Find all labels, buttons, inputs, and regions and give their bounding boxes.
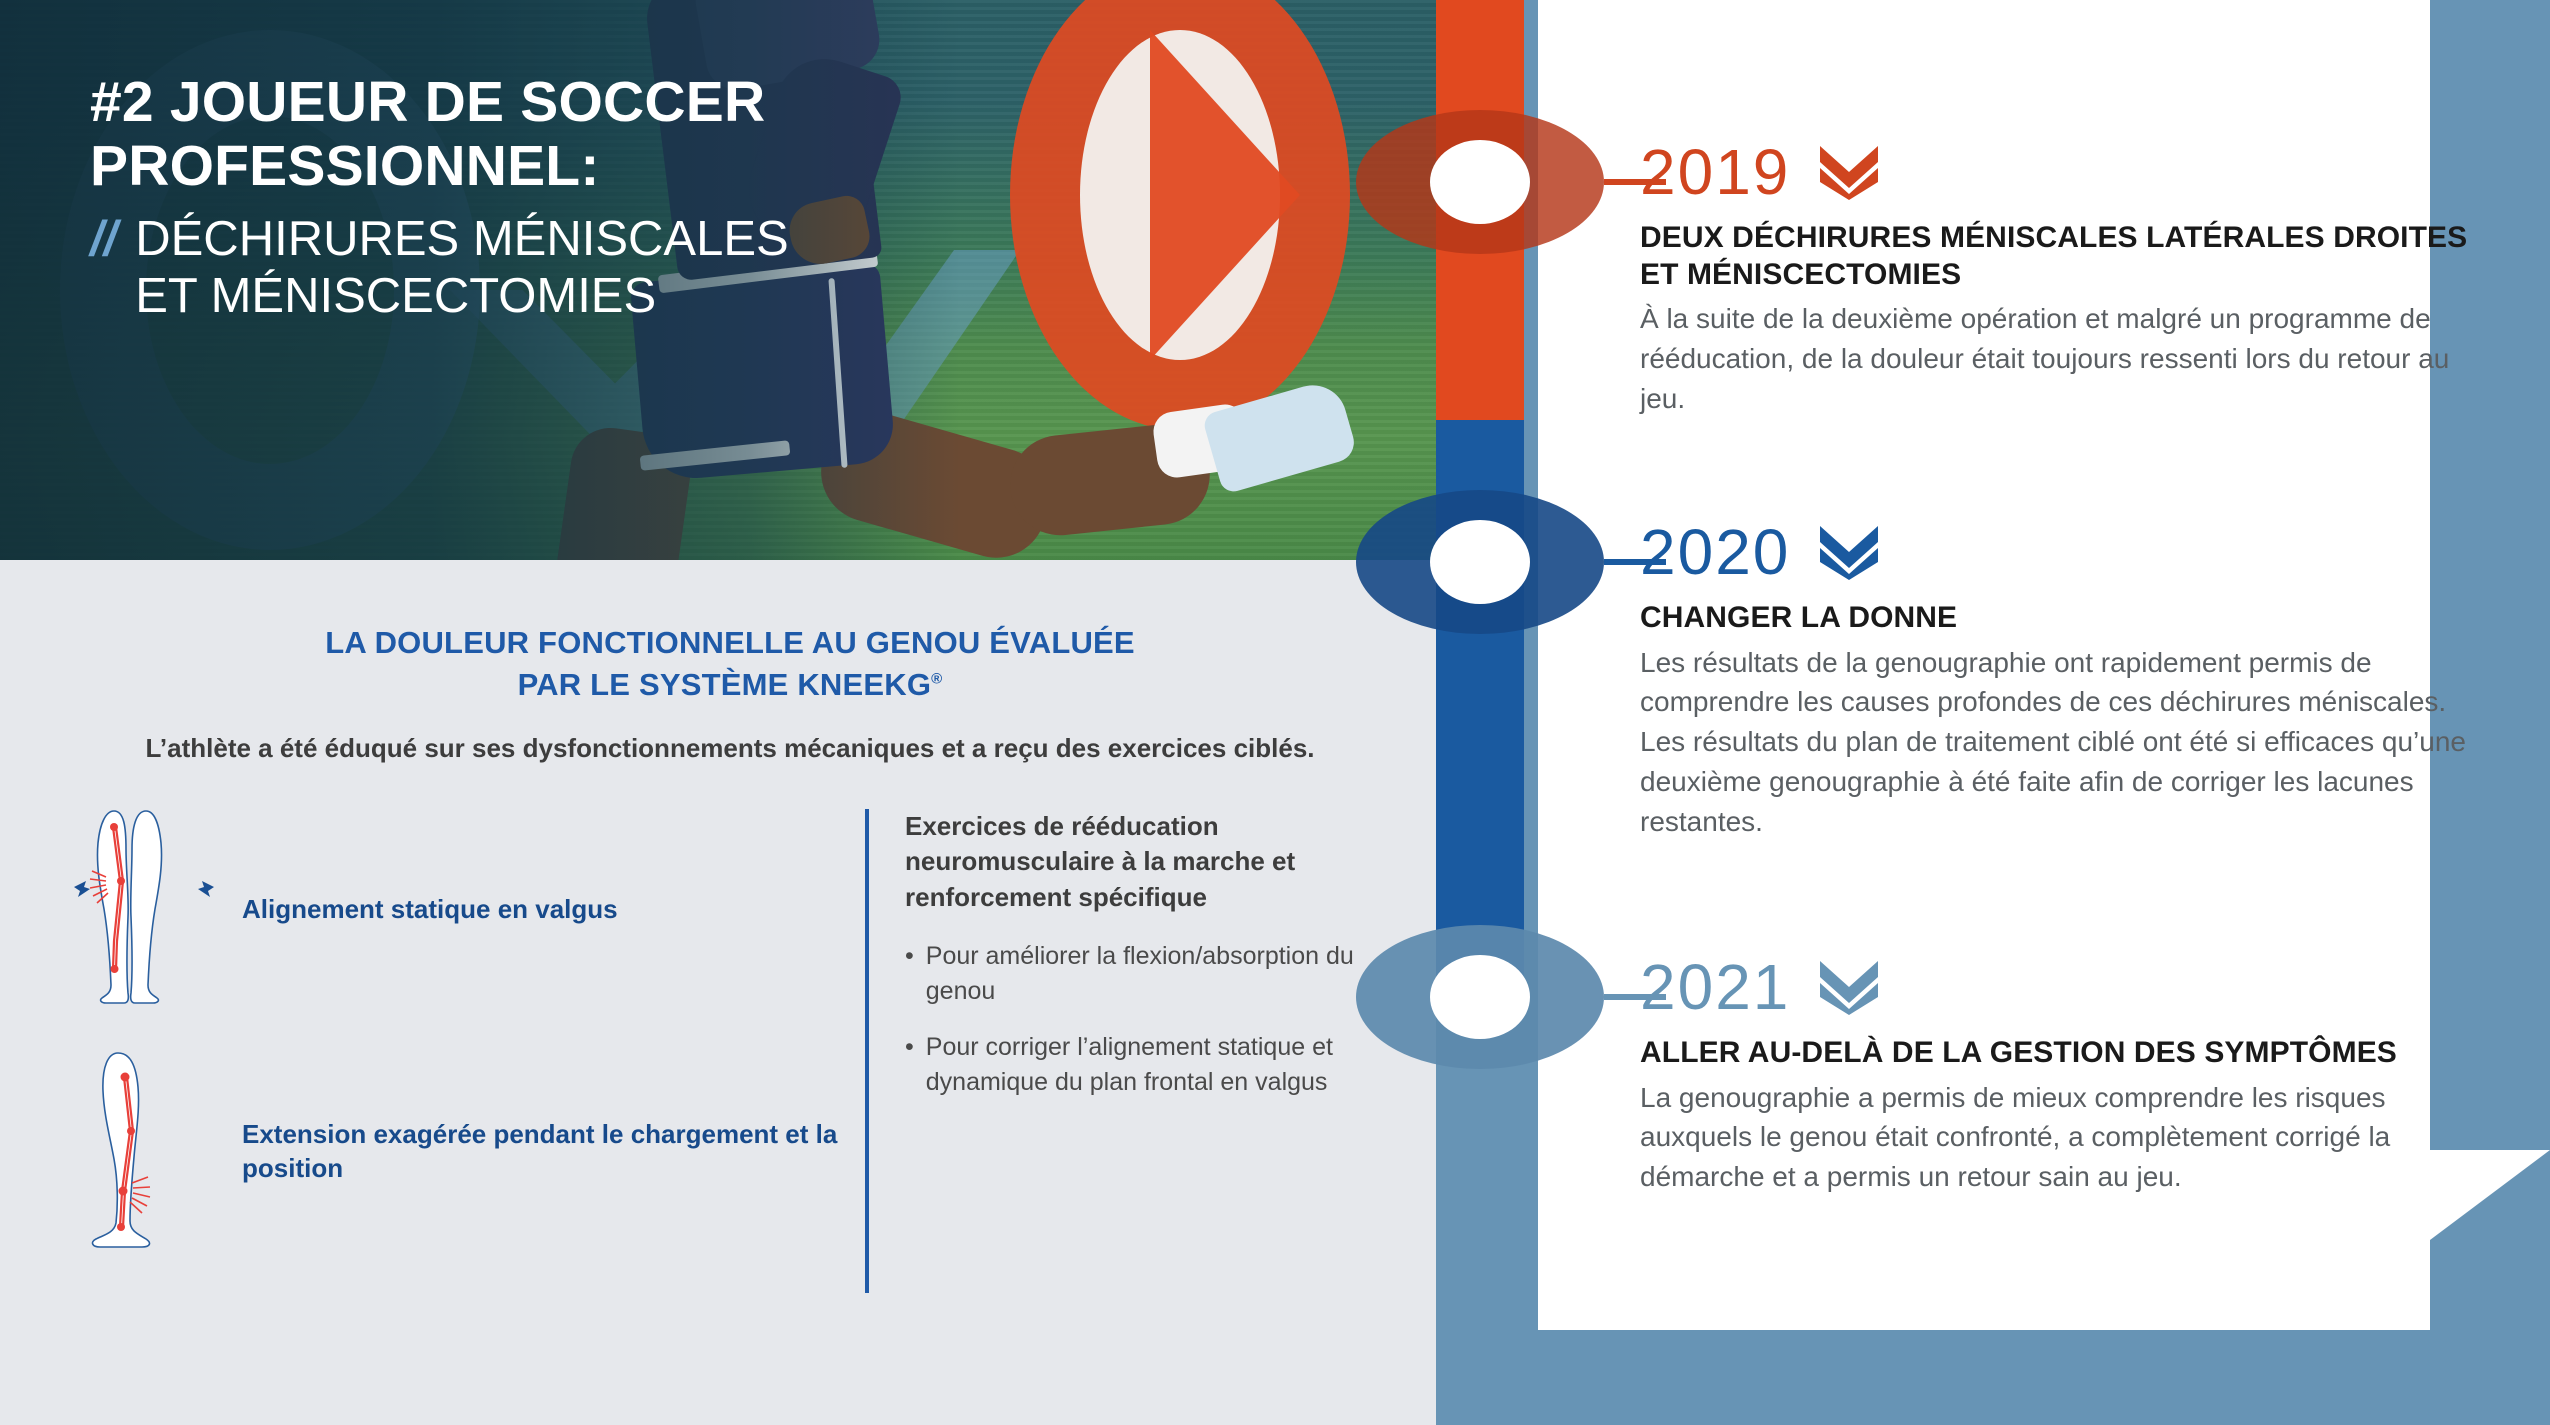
node-hole <box>1430 520 1530 604</box>
timeline-body: À la suite de la deuxième opération et m… <box>1640 299 2480 418</box>
timeline-year-row: 2020 <box>1640 520 2480 584</box>
assessment-heading-line-2: PAR LE SYSTÈME KNEEKG <box>518 667 932 702</box>
assessment-panel: LA DOULEUR FONCTIONNELLE AU GENOU ÉVALUÉ… <box>0 560 1460 1425</box>
timeline-entry-2019: 2019 DEUX DÉCHIRURES MÉNISCALES LATÉRALE… <box>1640 140 2480 418</box>
assessment-heading-line-1: LA DOULEUR FONCTIONNELLE AU GENOU ÉVALUÉ… <box>325 625 1135 660</box>
timeline-node-2021-icon <box>1356 925 1604 1069</box>
hero-subtitle-lines: DÉCHIRURES MÉNISCALES ET MÉNISCECTOMIES <box>135 211 788 325</box>
exercise-text: Pour améliorer la flexion/absorption du … <box>926 939 1400 1008</box>
hero-subtitle-line-2: ET MÉNISCECTOMIES <box>135 269 656 323</box>
timeline-entry-2021: 2021 ALLER AU-DELÀ DE LA GESTION DES SYM… <box>1640 955 2480 1197</box>
bullet-icon: • <box>905 939 914 1008</box>
findings-column: Alignement statique en valgus <box>70 809 865 1293</box>
exercise-text: Pour corriger l’alignement statique et d… <box>926 1030 1400 1099</box>
timeline-node-2019-icon <box>1356 110 1604 254</box>
finding-label: Alignement statique en valgus <box>242 892 618 926</box>
double-chevron-down-icon <box>1816 957 1882 1017</box>
timeline-body: La genougraphie a permis de mieux compre… <box>1640 1078 2480 1197</box>
timeline-year-row: 2019 <box>1640 140 2480 204</box>
infographic-root: #2 JOUEUR DE SOCCER PROFESSIONNEL: // DÉ… <box>0 0 2550 1425</box>
exercises-heading: Exercices de rééducation neuromusculaire… <box>905 809 1400 915</box>
finding-item: Alignement statique en valgus <box>70 809 865 1009</box>
timeline-entry-2020: 2020 CHANGER LA DONNE Les résultats de l… <box>1640 520 2480 841</box>
timeline-year-label: 2019 <box>1640 140 1790 204</box>
exercise-bullet-item: • Pour corriger l’alignement statique et… <box>905 1030 1400 1099</box>
finding-item: Extension exagérée pendant le chargement… <box>70 1051 865 1251</box>
hero-title: #2 JOUEUR DE SOCCER PROFESSIONNEL: <box>90 70 920 199</box>
finding-label: Extension exagérée pendant le chargement… <box>242 1117 865 1186</box>
exercise-bullet-item: • Pour améliorer la flexion/absorption d… <box>905 939 1400 1008</box>
double-slash-marker-icon: // <box>90 211 117 268</box>
bullet-icon: • <box>905 1030 914 1099</box>
double-chevron-down-icon <box>1816 522 1882 582</box>
node-hole <box>1430 140 1530 224</box>
timeline-year-label: 2020 <box>1640 520 1790 584</box>
timeline-headline: DEUX DÉCHIRURES MÉNISCALES LATÉRALES DRO… <box>1640 220 2480 293</box>
timeline-headline: ALLER AU-DELÀ DE LA GESTION DES SYMPTÔME… <box>1640 1035 2480 1072</box>
timeline-headline: CHANGER LA DONNE <box>1640 600 2480 637</box>
assessment-columns: Alignement statique en valgus <box>0 809 1460 1293</box>
node-hole <box>1430 955 1530 1039</box>
assessment-subheading: L’athlète a été éduqué sur ses dysfoncti… <box>0 705 1460 767</box>
hero-text-block: #2 JOUEUR DE SOCCER PROFESSIONNEL: // DÉ… <box>90 70 920 324</box>
exercises-column: Exercices de rééducation neuromusculaire… <box>865 809 1400 1293</box>
leg-valgus-front-icon <box>70 809 220 1009</box>
assessment-heading: LA DOULEUR FONCTIONNELLE AU GENOU ÉVALUÉ… <box>0 560 1460 705</box>
hero-subtitle-line-1: DÉCHIRURES MÉNISCALES <box>135 212 788 266</box>
double-chevron-down-icon <box>1816 142 1882 202</box>
timeline-node-2020-icon <box>1356 490 1604 634</box>
timeline-body: Les résultats de la genougraphie ont rap… <box>1640 643 2480 842</box>
hero-subtitle: // DÉCHIRURES MÉNISCALES ET MÉNISCECTOMI… <box>90 211 920 325</box>
leg-hyperextension-side-icon <box>70 1051 220 1251</box>
timeline-year-label: 2021 <box>1640 955 1790 1019</box>
registered-trademark-icon: ® <box>931 670 942 687</box>
timeline-year-row: 2021 <box>1640 955 2480 1019</box>
